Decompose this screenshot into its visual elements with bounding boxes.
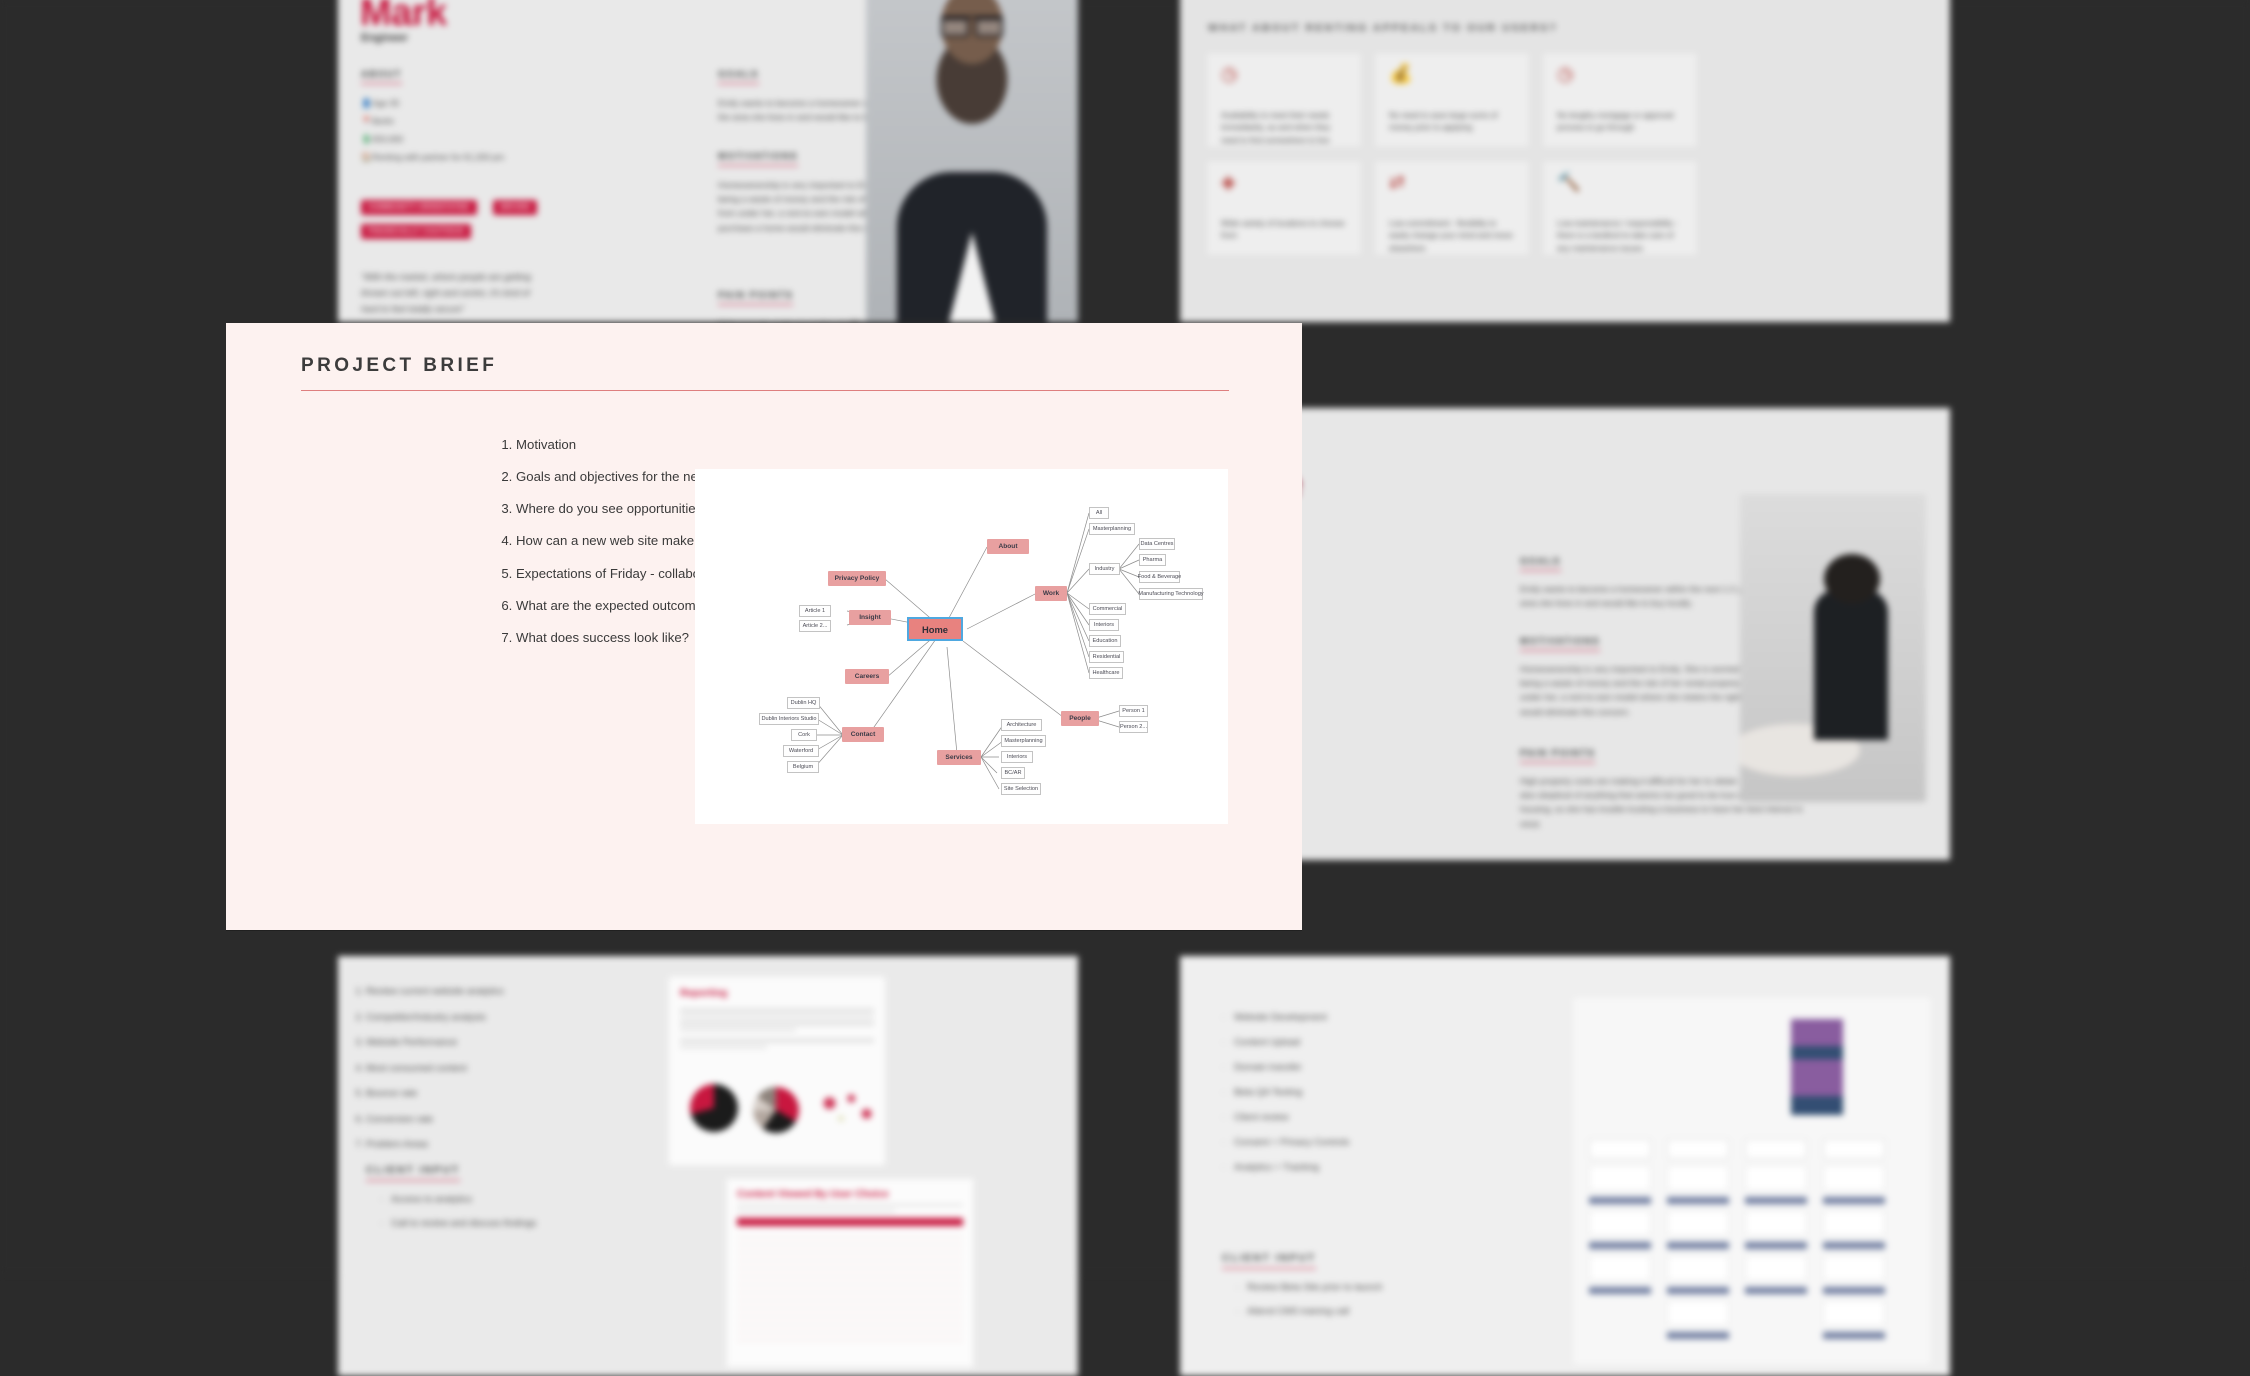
money-icon: 💲 xyxy=(361,134,372,145)
table-row xyxy=(737,1317,963,1325)
client-input-heading: CLIENT INPUT xyxy=(1222,1252,1316,1269)
mindmap-leaf-architecture[interactable]: Architecture xyxy=(1001,719,1042,731)
project-brief-modal: PROJECT BRIEF Motivation Goals and objec… xyxy=(226,323,1302,930)
appeal-card: ⇄ Low-commitment - flexibility to easily… xyxy=(1374,160,1530,256)
client-input-list: Access to analytics Call to review and d… xyxy=(380,1194,536,1242)
mindmap-leaf-cork[interactable]: Cork xyxy=(791,729,817,741)
clock-icon: ◷ xyxy=(1557,65,1683,84)
table-row xyxy=(737,1277,963,1285)
table-row xyxy=(737,1325,963,1333)
pain-points-heading: PAIN POINTS xyxy=(1520,748,1595,763)
about-heading: ABOUT xyxy=(361,69,402,84)
table-row xyxy=(737,1301,963,1309)
about-item-salary: 💲€50,000 xyxy=(361,134,403,145)
home-icon: 🏠 xyxy=(361,152,372,163)
client-input-list: Review Beta Site prior to launch Attend … xyxy=(1236,1282,1382,1330)
deliverables-list: Website Development Content Upload Domai… xyxy=(1222,1012,1350,1187)
mindmap-leaf-food-and-beverage[interactable]: Food & Beverage xyxy=(1139,571,1180,583)
mindmap-leaf-masterplanning[interactable]: Masterplanning xyxy=(1089,523,1135,535)
map-pin-icon: ◈ xyxy=(1221,173,1347,192)
table-row xyxy=(737,1253,963,1261)
mindmap-leaf-all[interactable]: All xyxy=(1089,507,1109,519)
mindmap-node-contact[interactable]: Contact xyxy=(842,727,884,742)
mindmap-leaf-industry[interactable]: Industry xyxy=(1089,563,1120,575)
background-slide-analytics: Review current website analytics Competi… xyxy=(338,956,1078,1376)
table-row xyxy=(737,1261,963,1269)
mindmap-node-about[interactable]: About xyxy=(987,539,1029,554)
mindmap-leaf-waterford[interactable]: Waterford xyxy=(783,745,819,757)
goals-heading: GOALS xyxy=(718,69,759,84)
mindmap-leaf-manufacturing-technology[interactable]: Manufacturing Technology xyxy=(1139,588,1203,600)
pain-points-heading: PAIN POINTS xyxy=(718,290,793,305)
mindmap-leaf-site-selection[interactable]: Site Selection xyxy=(1001,783,1041,795)
goals-heading: GOALS xyxy=(1520,556,1561,571)
mindmap-node-services[interactable]: Services xyxy=(937,750,981,765)
table-header-row xyxy=(737,1218,963,1226)
reporting-text-lines xyxy=(680,1009,874,1048)
client-input-heading: CLIENT INPUT xyxy=(366,1164,460,1181)
mindmap-leaf-person-2[interactable]: Person 2... xyxy=(1119,721,1148,733)
wireframe-highlight-block xyxy=(1791,1019,1843,1115)
mindmap-leaf-bcar[interactable]: BC/AR xyxy=(1001,767,1025,779)
analytics-list: Review current website analytics Competi… xyxy=(366,986,504,1165)
list-item: Motivation xyxy=(516,435,816,454)
mindmap-node-insight[interactable]: Insight xyxy=(849,610,891,625)
persona-photo xyxy=(1740,494,1926,802)
motivations-heading: MOTIVATIONS xyxy=(718,151,798,166)
shuffle-icon: ⇄ xyxy=(1389,173,1515,192)
persona-name: Mark xyxy=(360,0,447,35)
appeal-card: 🔨 Low-maintenance / responsibility - the… xyxy=(1542,160,1698,256)
mindmap-leaf-dublin-interiors-studio[interactable]: Dublin Interiors Studio xyxy=(759,713,819,725)
table-row xyxy=(737,1245,963,1253)
table-row xyxy=(737,1269,963,1277)
mindmap-leaf-person-1[interactable]: Person 1 xyxy=(1119,705,1148,717)
appeal-card: ◷ Availability to meet their needs immed… xyxy=(1206,52,1362,148)
mindmap-node-careers[interactable]: Careers xyxy=(845,669,889,684)
about-item-location: 📍Berlin xyxy=(361,116,394,127)
mindmap-leaf-interiors[interactable]: Interiors xyxy=(1001,751,1033,763)
appeal-card: 💰 No need to save large sums of money pr… xyxy=(1374,52,1530,148)
mindmap-leaf-article-2[interactable]: Article 2... xyxy=(799,620,831,632)
background-slide-persona-mark: Mark Engineer ABOUT 👤Age 35 📍Berlin 💲€50… xyxy=(338,0,1078,322)
about-item-housing: 🏠Renting with partner for €1,200 pm xyxy=(361,152,504,163)
mindmap-leaf-data-centres[interactable]: Data Centres xyxy=(1139,538,1175,550)
table-caption-lines xyxy=(737,1204,963,1212)
background-slide-renting-appeals: WHAT ABOUT RENTING APPEALS TO OUR USERS?… xyxy=(1180,0,1950,322)
persona-tag: DRIVEN xyxy=(493,200,537,215)
background-slide-deliverables: Website Development Content Upload Domai… xyxy=(1180,956,1950,1376)
about-item-age: 👤Age 35 xyxy=(361,98,399,109)
piggy-bank-icon: 💰 xyxy=(1389,65,1515,84)
pie-chart xyxy=(690,1084,738,1132)
mindmap-node-home[interactable]: Home xyxy=(907,617,963,641)
appeal-card-grid: ◷ Availability to meet their needs immed… xyxy=(1206,52,1698,256)
pie-chart xyxy=(753,1087,799,1133)
persona-photo xyxy=(866,0,1078,322)
table-row xyxy=(737,1237,963,1245)
mindmap-leaf-commercial[interactable]: Commercial xyxy=(1089,603,1126,615)
content-viewed-table: Content Viewed By User Choice xyxy=(726,1178,974,1368)
mindmap-leaf-masterplanning[interactable]: Masterplanning xyxy=(1001,735,1046,747)
sitemap-mindmap-canvas[interactable]: Home About Privacy Policy Insight Career… xyxy=(695,469,1228,824)
title-divider xyxy=(301,390,1229,391)
mindmap-node-privacy-policy[interactable]: Privacy Policy xyxy=(828,571,886,586)
wireframe-graphic xyxy=(1572,996,1932,1366)
slide-title: WHAT ABOUT RENTING APPEALS TO OUR USERS? xyxy=(1208,22,1558,34)
mindmap-leaf-residential[interactable]: Residential xyxy=(1089,651,1124,663)
mindmap-node-people[interactable]: People xyxy=(1061,711,1099,726)
mindmap-leaf-pharma[interactable]: Pharma xyxy=(1139,554,1166,566)
persona-tag: FINANCIALLY CAUTIOUS xyxy=(361,224,471,239)
mindmap-leaf-healthcare[interactable]: Healthcare xyxy=(1089,667,1123,679)
clock-icon: ◷ xyxy=(1221,65,1347,84)
mindmap-connector-lines xyxy=(695,469,1228,824)
mindmap-leaf-belgium[interactable]: Belgium xyxy=(787,761,819,773)
hammer-icon: 🔨 xyxy=(1557,173,1683,192)
reporting-panel: Reporting xyxy=(668,976,886,1166)
page-title: PROJECT BRIEF xyxy=(301,355,497,377)
mindmap-leaf-dublin-hq[interactable]: Dublin HQ xyxy=(787,697,820,709)
mindmap-leaf-article-1[interactable]: Article 1 xyxy=(799,605,831,617)
table-row xyxy=(737,1229,963,1237)
table-row xyxy=(737,1285,963,1293)
appeal-card: ◈ Wide variety of locations to choose fr… xyxy=(1206,160,1362,256)
table-row xyxy=(737,1293,963,1301)
appeal-card: ◷ No lengthy mortgage or approval proces… xyxy=(1542,52,1698,148)
content-table-title: Content Viewed By User Choice xyxy=(737,1189,963,1200)
table-row xyxy=(737,1333,963,1341)
reporting-panel-title: Reporting xyxy=(680,988,874,999)
mindmap-leaf-interiors[interactable]: Interiors xyxy=(1089,619,1119,631)
mindmap-leaf-education[interactable]: Education xyxy=(1089,635,1121,647)
persona-role: Engineer xyxy=(361,32,408,44)
world-map-graphic xyxy=(818,1084,882,1132)
persona-quote: “With the market, where people are getti… xyxy=(361,270,531,317)
person-icon: 👤 xyxy=(361,98,372,109)
motivations-heading: MOTIVATIONS xyxy=(1520,636,1600,651)
location-icon: 📍 xyxy=(361,116,372,127)
mindmap-node-work[interactable]: Work xyxy=(1035,586,1067,601)
table-row xyxy=(737,1309,963,1317)
persona-tag: COMMUNITY-ORIENTATED xyxy=(361,200,477,215)
